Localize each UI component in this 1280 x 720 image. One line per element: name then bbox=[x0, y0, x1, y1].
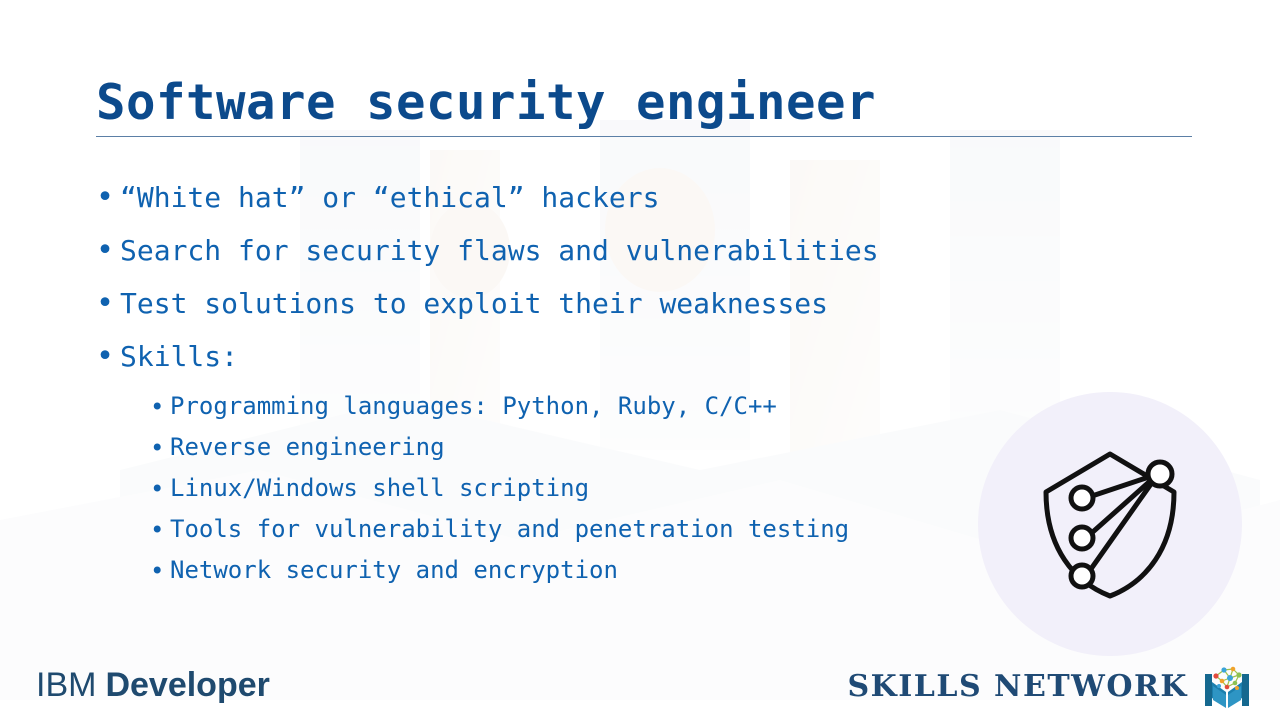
list-item-label: “White hat” or “ethical” hackers bbox=[120, 176, 1196, 220]
list-item: • Search for security flaws and vulnerab… bbox=[96, 229, 1196, 273]
bullet-marker: • bbox=[96, 229, 120, 273]
ibm-wordmark: IBM bbox=[36, 666, 96, 705]
bullet-list: • “White hat” or “ethical” hackers • Sea… bbox=[96, 176, 1196, 593]
sub-list-item-label: Reverse engineering bbox=[170, 429, 445, 465]
list-item: • Skills: bbox=[96, 335, 1196, 379]
list-item: • “White hat” or “ethical” hackers bbox=[96, 176, 1196, 220]
sub-bullet-marker: • bbox=[150, 511, 170, 549]
skills-network-logo-group: SKILLS NETWORK bbox=[847, 664, 1252, 710]
sub-bullet-marker: • bbox=[150, 388, 170, 426]
skills-network-wordmark: SKILLS NETWORK bbox=[847, 669, 1188, 705]
sub-list-item: • Network security and encryption bbox=[150, 552, 1196, 590]
sub-list-item: • Linux/Windows shell scripting bbox=[150, 470, 1196, 508]
sub-list-item-label: Network security and encryption bbox=[170, 552, 618, 588]
sub-bullet-marker: • bbox=[150, 552, 170, 590]
sub-list-item: • Reverse engineering bbox=[150, 429, 1196, 467]
sub-list-item-label: Tools for vulnerability and penetration … bbox=[170, 511, 849, 547]
bullet-marker: • bbox=[96, 282, 120, 326]
open-book-network-icon bbox=[1202, 664, 1252, 710]
sub-list-item-label: Programming languages: Python, Ruby, C/C… bbox=[170, 388, 777, 424]
list-item-label: Search for security flaws and vulnerabil… bbox=[120, 229, 1196, 273]
ibm-developer-logo: IBM Developer bbox=[36, 666, 270, 705]
bullet-marker: • bbox=[96, 176, 120, 220]
page-title: Software security engineer bbox=[96, 72, 1196, 134]
sub-list-item-label: Linux/Windows shell scripting bbox=[170, 470, 589, 506]
sub-bullet-marker: • bbox=[150, 470, 170, 508]
list-item-label: Test solutions to exploit their weakness… bbox=[120, 282, 1196, 326]
title-underline-rule bbox=[96, 136, 1192, 137]
sub-list-item: • Tools for vulnerability and penetratio… bbox=[150, 511, 1196, 549]
list-item-label: Skills: bbox=[120, 335, 1196, 379]
sub-bullet-marker: • bbox=[150, 429, 170, 467]
developer-wordmark: Developer bbox=[105, 666, 269, 705]
list-item: • Test solutions to exploit their weakne… bbox=[96, 282, 1196, 326]
slide: Software security engineer • “White hat”… bbox=[0, 0, 1280, 720]
sub-bullet-list: • Programming languages: Python, Ruby, C… bbox=[96, 388, 1196, 590]
bullet-marker: • bbox=[96, 335, 120, 379]
sub-list-item: • Programming languages: Python, Ruby, C… bbox=[150, 388, 1196, 426]
